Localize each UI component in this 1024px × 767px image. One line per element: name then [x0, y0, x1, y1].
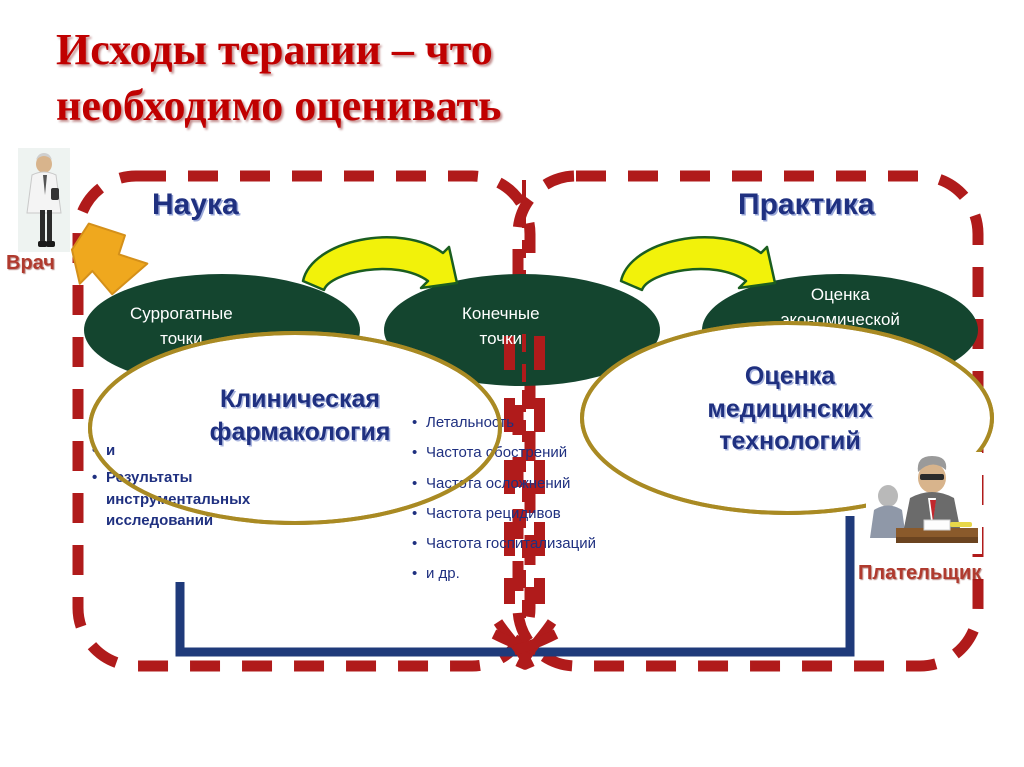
doctor-figure-image — [18, 148, 70, 252]
list-item: • Частота осложнений — [412, 473, 682, 494]
payer-caption: Плательщик — [858, 562, 981, 585]
process-label-endpoints: Конечные точки — [462, 302, 540, 351]
flow-arrow-2 — [621, 237, 775, 290]
process-label-endpoints-line1: Конечные — [462, 302, 540, 327]
bullet-dot-icon: • — [412, 473, 426, 494]
list-item-label: Частота рецидивов — [426, 503, 682, 524]
process-label-surrogate-line1: Суррогатные — [130, 302, 233, 327]
doctor-caption: Врач — [6, 252, 55, 275]
process-label-economics-line1: Оценка — [778, 283, 903, 308]
process-label-economics-line3: эффективности — [778, 332, 903, 357]
process-label-economics-line2: экономической — [778, 308, 903, 333]
flow-arrow-1 — [303, 237, 457, 290]
page-title-line-2: необходимо оценивать — [56, 78, 696, 134]
page-title-line-1: Исходы терапии – что — [56, 22, 696, 78]
section-heading-practice: Практика — [738, 188, 874, 222]
slide-canvas: Исходы терапии – что необходимо оцениват… — [0, 0, 1024, 767]
discipline-label-clinical-pharmacology: Клиническая фармакология — [160, 383, 440, 448]
bullet-dot-icon: • — [92, 440, 106, 461]
list-item-label: и др. — [426, 563, 682, 584]
bullets-science-column: • и • Результаты инструментальных исслед… — [92, 440, 307, 537]
discipline-label-hta-line2: медицинских — [640, 393, 940, 426]
list-item-label: Частота осложнений — [426, 473, 682, 494]
bullet-dot-icon: • — [412, 533, 426, 554]
section-heading-science: Наука — [152, 188, 239, 222]
blocked-x-marker — [494, 622, 556, 668]
page-title: Исходы терапии – что необходимо оцениват… — [56, 22, 696, 135]
discipline-label-hta-line1: Оценка — [640, 360, 940, 393]
list-item-label: Частота госпитализаций — [426, 533, 682, 554]
discipline-label-hta: Оценка медицинских технологий — [640, 360, 940, 458]
orange-arrow-icon — [63, 221, 154, 302]
process-label-surrogate-line2: точки — [130, 327, 233, 352]
payer-businessman-image — [866, 452, 982, 554]
list-item: • Частота рецидивов — [412, 503, 682, 524]
list-item: • и др. — [412, 563, 682, 584]
list-item-label: Результаты инструментальных исследований — [106, 467, 307, 531]
discipline-label-clinical-pharmacology-line1: Клиническая — [160, 383, 440, 416]
bullet-dot-icon: • — [412, 503, 426, 524]
process-label-surrogate: Суррогатные точки — [130, 302, 233, 351]
bullet-dot-icon: • — [92, 467, 106, 531]
process-label-endpoints-line2: точки — [462, 327, 540, 352]
list-item: • Частота госпитализаций — [412, 533, 682, 554]
discipline-label-clinical-pharmacology-line2: фармакология — [160, 416, 440, 449]
bullet-dot-icon: • — [412, 563, 426, 584]
list-item: • Результаты инструментальных исследован… — [92, 467, 307, 531]
process-label-economics: Оценка экономической эффективности — [778, 283, 903, 357]
